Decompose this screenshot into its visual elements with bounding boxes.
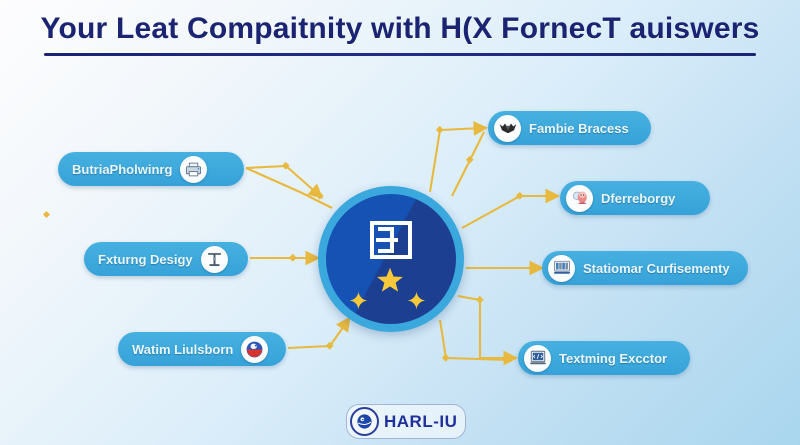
node-label: Fxturng Desigy xyxy=(90,252,201,267)
document-glyph-icon xyxy=(368,220,414,262)
node-right-3[interactable]: Statiomar Curfisementy xyxy=(542,251,748,285)
node-right-1[interactable]: Fambie Bracess xyxy=(488,111,651,145)
laptop-code-icon xyxy=(524,345,551,372)
node-label: Watim Liulsborn xyxy=(124,342,241,357)
node-right-2[interactable]: Dferreborgy xyxy=(560,181,710,215)
node-label: Fambie Bracess xyxy=(521,121,637,136)
central-hub[interactable] xyxy=(318,186,464,332)
hub-inner-circle xyxy=(326,194,456,324)
star-icon xyxy=(406,290,427,311)
star-icon xyxy=(348,290,369,311)
node-label: Textming Excctor xyxy=(551,351,675,366)
footer-logo[interactable]: HARL-IU xyxy=(346,404,466,439)
node-label: Statiomar Curfisementy xyxy=(575,261,738,276)
node-left-2[interactable]: Fxturng Desigy xyxy=(84,242,248,276)
node-label: ButriaPholwinrg xyxy=(64,162,180,177)
star-icon xyxy=(376,266,404,294)
books-shelf-icon xyxy=(548,255,575,282)
person-head-icon xyxy=(566,185,593,212)
logo-text: HARL-IU xyxy=(384,412,457,432)
node-left-3[interactable]: Watim Liulsborn xyxy=(118,332,286,366)
node-label: Dferreborgy xyxy=(593,191,683,206)
printer-icon xyxy=(180,156,207,183)
infographic-canvas: Your Leat Compaitnity with H(X FornecT a… xyxy=(0,0,800,445)
bowl-dish-icon xyxy=(241,336,268,363)
globe-badge-icon xyxy=(350,407,379,436)
node-right-4[interactable]: Textming Excctor xyxy=(518,341,690,375)
node-left-1[interactable]: ButriaPholwinrg xyxy=(58,152,244,186)
crane-tool-icon xyxy=(201,246,228,273)
bat-shape-icon xyxy=(494,115,521,142)
